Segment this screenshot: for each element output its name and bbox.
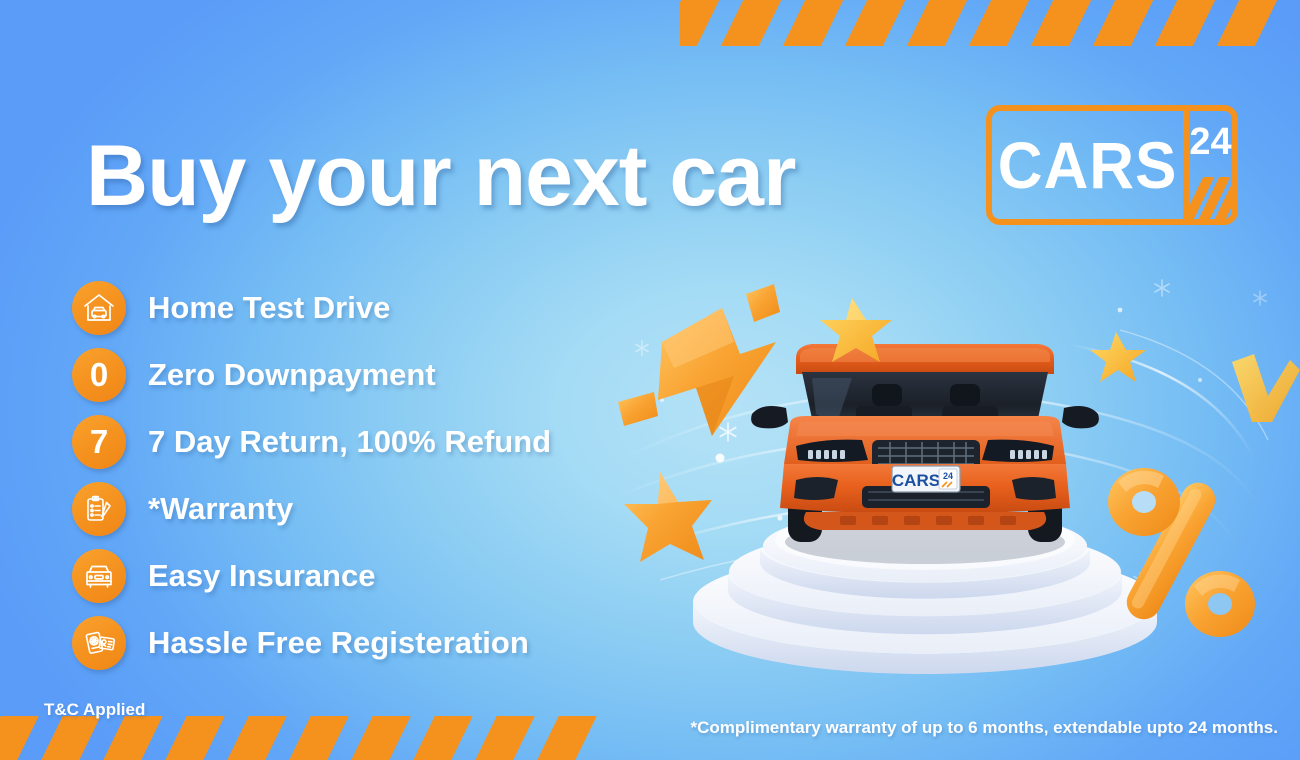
stripe-bar: [680, 0, 719, 46]
feature-label: *Warranty: [148, 491, 293, 527]
stripe-bar: [537, 716, 596, 760]
logo-cars-cell: CARS: [992, 111, 1189, 219]
documents-icon: [72, 616, 126, 670]
stripe-bar: [0, 716, 39, 760]
stripe-bar: [721, 0, 781, 46]
stripe-bar: [1031, 0, 1091, 46]
license-plate: CARS 24: [892, 466, 960, 492]
stripe-bar: [1155, 0, 1215, 46]
stripe-band-bottom-left: [0, 716, 620, 760]
feature-item-home-test-drive: Home Test Drive: [72, 274, 632, 341]
feature-label: Home Test Drive: [148, 290, 390, 326]
zero-number-icon: 0: [72, 348, 126, 402]
badge-number: 0: [90, 358, 108, 391]
feature-list: Home Test Drive 0 Zero Downpayment 7 7 D…: [72, 274, 632, 676]
cars24-logo: CARS 24: [986, 105, 1238, 225]
star-3d-small-yellow: [1090, 332, 1146, 382]
stripe-bar: [969, 0, 1029, 46]
feature-label: 7 Day Return, 100% Refund: [148, 424, 551, 460]
check-shape-3d: [1232, 354, 1300, 422]
stripe-bar: [783, 0, 843, 46]
stripe-bar: [845, 0, 905, 46]
feature-item-hassle-free-registration: Hassle Free Registeration: [72, 609, 632, 676]
logo-24-cell: 24: [1189, 111, 1232, 219]
hero-illustration: CARS 24: [600, 250, 1300, 680]
stripe-bar: [289, 716, 348, 760]
car-illustration: CARS 24: [751, 344, 1099, 564]
stripe-bar: [103, 716, 162, 760]
feature-item-seven-day-return: 7 7 Day Return, 100% Refund: [72, 408, 632, 475]
badge-number: 7: [90, 425, 108, 458]
home-car-icon: [72, 281, 126, 335]
feature-item-warranty: *Warranty: [72, 475, 632, 542]
stripe-bar: [351, 716, 410, 760]
feature-item-easy-insurance: Easy Insurance: [72, 542, 632, 609]
feature-item-zero-downpayment: 0 Zero Downpayment: [72, 341, 632, 408]
feature-label: Hassle Free Registeration: [148, 625, 529, 661]
stripe-bar: [227, 716, 286, 760]
stripe-bar: [1217, 0, 1277, 46]
stripe-bar: [413, 716, 472, 760]
clipboard-pen-icon: [72, 482, 126, 536]
feature-label: Zero Downpayment: [148, 357, 436, 393]
seven-number-icon: 7: [72, 415, 126, 469]
stripe-band-top-right: [680, 0, 1300, 46]
svg-text:CARS: CARS: [892, 471, 940, 490]
car-front-icon: [72, 549, 126, 603]
logo-24-text: 24: [1189, 123, 1232, 161]
stripe-bar: [475, 716, 534, 760]
logo-cars-text: CARS: [998, 132, 1178, 198]
stripe-bar: [165, 716, 224, 760]
disclaimer-text: *Complimentary warranty of up to 6 month…: [690, 718, 1278, 738]
stripe-bar: [907, 0, 967, 46]
svg-text:24: 24: [943, 471, 953, 481]
star-3d-orange: [624, 472, 712, 562]
page-title: Buy your next car: [86, 133, 795, 219]
stripe-bar: [1093, 0, 1153, 46]
feature-label: Easy Insurance: [148, 558, 375, 594]
tc-applied-text: T&C Applied: [44, 700, 145, 720]
logo-stripe-accent: [1189, 177, 1232, 219]
stripe-bar: [41, 716, 100, 760]
